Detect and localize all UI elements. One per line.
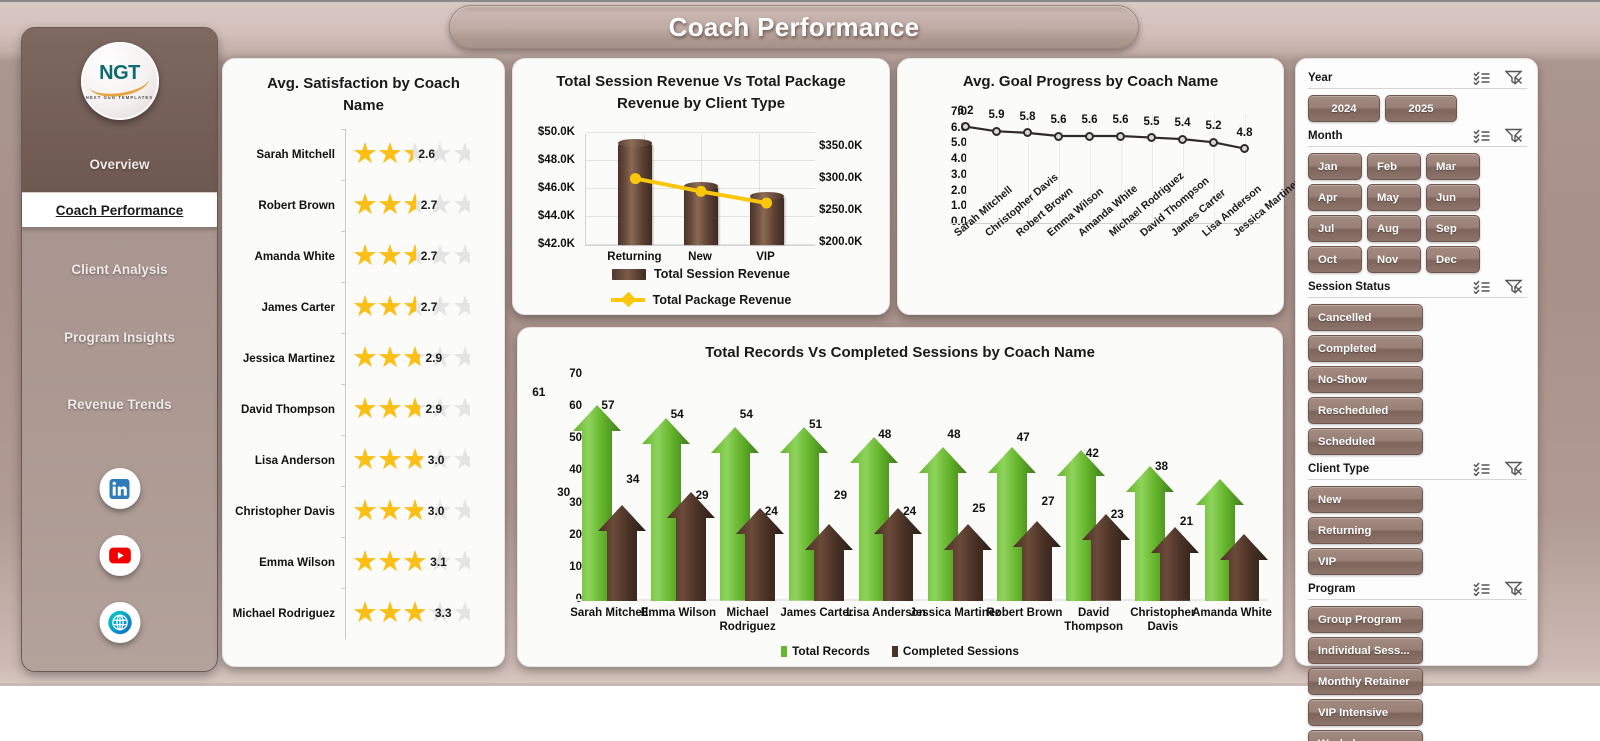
- filter-group-header: Client Type: [1308, 461, 1527, 476]
- filter-divider: [1308, 479, 1527, 480]
- revenue-y-tick: $44.0K: [538, 210, 575, 222]
- star-rating: ★★★★★★★★★★: [352, 343, 470, 373]
- filter-divider: [1308, 297, 1527, 298]
- filter-chip-may[interactable]: May: [1367, 184, 1421, 211]
- satisfaction-row: Sarah Mitchell★★★★★★★★★★2.6: [223, 129, 504, 180]
- select-all-icon[interactable]: [1473, 280, 1491, 294]
- revenue-x-label: VIP: [731, 251, 801, 263]
- revenue-y2-tick: $300.0K: [819, 172, 862, 184]
- gridline: [586, 132, 815, 133]
- filter-chip-cancelled[interactable]: Cancelled: [1308, 304, 1423, 331]
- rating-value: 2.7: [421, 300, 438, 314]
- filter-chip-jul[interactable]: Jul: [1308, 215, 1362, 242]
- coach-name: Amanda White: [223, 250, 345, 263]
- stars-filled: ★★★★★: [352, 343, 420, 373]
- axis-tick: [345, 486, 346, 537]
- revenue-plot-area: [585, 134, 815, 246]
- goal-data-label: 5.8: [1020, 111, 1036, 123]
- clear-filter-icon[interactable]: [1505, 128, 1523, 143]
- website-globe-icon[interactable]: [99, 602, 140, 643]
- revenue-y-tick: $48.0K: [538, 154, 575, 166]
- filter-group-header: Month: [1308, 128, 1527, 143]
- filter-chip-feb[interactable]: Feb: [1367, 153, 1421, 180]
- clear-filter-icon[interactable]: [1505, 581, 1523, 596]
- filter-chip-apr[interactable]: Apr: [1308, 184, 1362, 211]
- satisfaction-row: Lisa Anderson★★★★★★★★★★3.0: [223, 435, 504, 486]
- records-legend: Total RecordsCompleted Sessions: [518, 644, 1282, 658]
- stars-filled: ★★★★★: [352, 496, 423, 526]
- goal-data-label: 6.2: [958, 105, 974, 117]
- filter-chip-2025[interactable]: 2025: [1385, 95, 1457, 122]
- stars-filled: ★★★★★: [352, 547, 425, 577]
- goal-progress-card: Avg. Goal Progress by Coach Name 7.06.05…: [897, 58, 1284, 315]
- legend-label: Total Records: [792, 644, 870, 658]
- records-arrow-bar: [883, 508, 913, 601]
- filter-group-header: Program: [1308, 581, 1527, 596]
- filter-chip-mar[interactable]: Mar: [1426, 153, 1480, 180]
- coach-name: Jessica Martinez: [223, 352, 345, 365]
- filter-chip-jun[interactable]: Jun: [1426, 184, 1480, 211]
- records-arrow-bar: [1229, 534, 1259, 602]
- axis-tick: [345, 384, 346, 435]
- records-arrow-bar: [607, 505, 637, 601]
- records-data-label: 61: [532, 385, 545, 399]
- rating-value: 2.7: [421, 249, 438, 263]
- axis-tick: [345, 129, 346, 180]
- legend-swatch-line: [611, 298, 645, 302]
- goal-data-point: [1054, 132, 1063, 141]
- stars-filled: ★★★★★: [352, 394, 420, 424]
- rating-value: 2.9: [425, 351, 442, 365]
- filter-chip-group: CancelledCompletedNo-ShowRescheduledSche…: [1308, 304, 1527, 455]
- filter-panel: Year20242025MonthJanFebMarAprMayJunJulAu…: [1295, 58, 1538, 666]
- filter-chip-oct[interactable]: Oct: [1308, 246, 1362, 273]
- filter-chip-new[interactable]: New: [1308, 486, 1423, 513]
- records-arrow-bar: [745, 508, 775, 601]
- axis-tick: [345, 333, 346, 384]
- avg-satisfaction-card: Avg. Satisfaction by Coach Name Sarah Mi…: [222, 58, 505, 667]
- filter-chip-sep[interactable]: Sep: [1426, 215, 1480, 242]
- filter-group-label: Session Status: [1308, 281, 1473, 293]
- legend-swatch: [892, 646, 898, 657]
- rating-value: 3.1: [430, 555, 447, 569]
- stars-filled: ★★★★★: [352, 190, 416, 220]
- youtube-icon[interactable]: [99, 535, 140, 576]
- filter-actions: [1473, 279, 1527, 294]
- star-rating: ★★★★★★★★★★: [352, 190, 470, 220]
- filter-chip-completed[interactable]: Completed: [1308, 335, 1423, 362]
- filter-chip-individual-sess[interactable]: Individual Sess...: [1308, 637, 1423, 664]
- sidebar-item-client-analysis[interactable]: Client Analysis: [22, 251, 217, 287]
- sidebar-item-label: Program Insights: [64, 330, 175, 345]
- rating-value: 3.0: [428, 504, 445, 518]
- coach-name: Michael Rodriguez: [223, 607, 345, 620]
- filter-group-label: Program: [1308, 583, 1473, 595]
- goal-data-label: 5.5: [1144, 116, 1160, 128]
- ngt-logo: NGT NEXT GEN TEMPLATES: [81, 42, 159, 120]
- legend-swatch-bar: [612, 269, 646, 280]
- satisfaction-row: Emma Wilson★★★★★★★★★★3.1: [223, 537, 504, 588]
- package-revenue-line: [586, 134, 816, 246]
- satisfaction-row: Christopher Davis★★★★★★★★★★3.0: [223, 486, 504, 537]
- satisfaction-row: Jessica Martinez★★★★★★★★★★2.9: [223, 333, 504, 384]
- clear-filter-icon[interactable]: [1505, 70, 1523, 85]
- records-arrow-bar: [1022, 521, 1052, 601]
- filter-chip-returning[interactable]: Returning: [1308, 517, 1423, 544]
- filter-actions: [1473, 128, 1527, 143]
- goal-data-point: [961, 122, 970, 131]
- axis-tick: [345, 282, 346, 333]
- sidebar-item-label: Client Analysis: [71, 262, 167, 277]
- revenue-x-label: New: [665, 251, 735, 263]
- sidebar-item-label: Overview: [89, 157, 149, 172]
- filter-chip-2024[interactable]: 2024: [1308, 95, 1380, 122]
- filter-chip-nov[interactable]: Nov: [1367, 246, 1421, 273]
- records-arrow-bar: [953, 524, 983, 601]
- page-title-banner: Coach Performance: [449, 5, 1139, 49]
- records-chart-title: Total Records Vs Completed Sessions by C…: [518, 342, 1282, 364]
- chart-legend-item: Total Package Revenue: [513, 293, 889, 307]
- satisfaction-row: David Thompson★★★★★★★★★★2.9: [223, 384, 504, 435]
- goal-data-point: [1240, 144, 1249, 153]
- goal-data-label: 4.8: [1237, 127, 1253, 139]
- revenue-y2-tick: $350.0K: [819, 140, 862, 152]
- filter-divider: [1308, 146, 1527, 147]
- legend-label: Total Package Revenue: [653, 293, 792, 307]
- satisfaction-row: Robert Brown★★★★★★★★★★2.7: [223, 180, 504, 231]
- goal-data-point: [1116, 132, 1125, 141]
- stars-filled: ★★★★★: [352, 139, 413, 169]
- rating-value: 3.0: [428, 453, 445, 467]
- sidebar-item-overview[interactable]: Overview: [22, 146, 217, 182]
- coach-name: Emma Wilson: [223, 556, 345, 569]
- chart-legend-item: Completed Sessions: [892, 644, 1019, 658]
- revenue-comparison-card: Total Session Revenue Vs Total Package R…: [512, 58, 890, 315]
- revenue-y-tick: $46.0K: [538, 182, 575, 194]
- dashboard-root: Coach Performance NGT NEXT GEN TEMPLATES…: [0, 0, 1600, 741]
- select-all-icon[interactable]: [1473, 582, 1491, 596]
- clear-filter-icon[interactable]: [1505, 461, 1523, 476]
- filter-chip-group: Group ProgramIndividual Sess...Monthly R…: [1308, 606, 1527, 741]
- filter-chip-monthly-retainer[interactable]: Monthly Retainer: [1308, 668, 1423, 695]
- avg-satisfaction-title: Avg. Satisfaction by Coach Name: [245, 73, 482, 117]
- records-arrow-bar: [814, 524, 844, 601]
- records-x-label: Amanda White: [1186, 606, 1278, 620]
- satisfaction-rows: Sarah Mitchell★★★★★★★★★★2.6Robert Brown★…: [223, 129, 504, 639]
- goal-data-point: [1085, 132, 1094, 141]
- satisfaction-row: Michael Rodriguez★★★★★★★★★★3.3: [223, 588, 504, 639]
- filter-actions: [1473, 70, 1527, 85]
- select-all-icon[interactable]: [1473, 129, 1491, 143]
- star-rating: ★★★★★★★★★★: [352, 292, 470, 322]
- filter-chip-aug[interactable]: Aug: [1367, 215, 1421, 242]
- axis-tick: [345, 180, 346, 231]
- coach-name: Sarah Mitchell: [223, 148, 345, 161]
- coach-name: James Carter: [223, 301, 345, 314]
- filter-group-header: Session Status: [1308, 279, 1527, 294]
- chart-legend-item: Total Session Revenue: [513, 267, 889, 281]
- sidebar-item-program-insights[interactable]: Program Insights: [22, 319, 217, 355]
- records-arrow-bar: [1160, 527, 1190, 601]
- star-rating: ★★★★★★★★★★: [352, 394, 470, 424]
- select-all-icon[interactable]: [1473, 71, 1491, 85]
- star-rating: ★★★★★★★★★★: [352, 496, 470, 526]
- filter-chip-group: NewReturningVIP: [1308, 486, 1527, 575]
- goal-data-label: 5.6: [1082, 114, 1098, 126]
- star-rating: ★★★★★★★★★★: [352, 547, 470, 577]
- stars-filled: ★★★★★: [352, 598, 430, 628]
- satisfaction-row: James Carter★★★★★★★★★★2.7: [223, 282, 504, 333]
- records-vs-sessions-card: Total Records Vs Completed Sessions by C…: [517, 327, 1283, 667]
- sidebar-item-label: Coach Performance: [56, 203, 184, 218]
- rating-value: 2.6: [418, 147, 435, 161]
- filter-divider: [1308, 88, 1527, 89]
- filter-actions: [1473, 581, 1527, 596]
- filter-group-label: Client Type: [1308, 463, 1473, 475]
- revenue-y2-tick: $200.0K: [819, 236, 862, 248]
- filter-chip-workshop[interactable]: Workshop: [1308, 730, 1423, 741]
- filter-divider: [1308, 599, 1527, 600]
- logo-text: NGT: [99, 63, 140, 83]
- coach-name: Lisa Anderson: [223, 454, 345, 467]
- stars-filled: ★★★★★: [352, 445, 423, 475]
- goal-data-point: [992, 127, 1001, 136]
- records-data-label: 30: [557, 485, 570, 499]
- legend-swatch: [781, 646, 787, 657]
- rating-value: 2.7: [421, 198, 438, 212]
- linkedin-icon[interactable]: [99, 468, 140, 509]
- filter-group-label: Year: [1308, 72, 1473, 84]
- goal-chart-title: Avg. Goal Progress by Coach Name: [898, 71, 1283, 93]
- filter-chip-group-program[interactable]: Group Program: [1308, 606, 1423, 633]
- filter-group-label: Month: [1308, 130, 1473, 142]
- sidebar-item-coach-performance[interactable]: Coach Performance: [22, 192, 217, 228]
- sidebar-item-label: Revenue Trends: [67, 397, 171, 412]
- records-plot-area: [576, 376, 1268, 601]
- page-title: Coach Performance: [669, 12, 920, 43]
- revenue-y-tick: $42.0K: [538, 238, 575, 250]
- stars-filled: ★★★★★: [352, 241, 416, 271]
- select-all-icon[interactable]: [1473, 462, 1491, 476]
- filter-chip-vip[interactable]: VIP: [1308, 548, 1423, 575]
- chart-legend-item: Total Records: [781, 644, 870, 658]
- revenue-x-label: Returning: [599, 251, 669, 263]
- revenue-y2-tick: $250.0K: [819, 204, 862, 216]
- filter-group-header: Year: [1308, 70, 1527, 85]
- filter-chip-jan[interactable]: Jan: [1308, 153, 1362, 180]
- clear-filter-icon[interactable]: [1505, 279, 1523, 294]
- legend-label: Completed Sessions: [903, 644, 1019, 658]
- filter-chip-group: 20242025: [1308, 95, 1527, 122]
- goal-data-point: [1178, 135, 1187, 144]
- filter-chip-rescheduled[interactable]: Rescheduled: [1308, 397, 1423, 424]
- filter-actions: [1473, 461, 1527, 476]
- revenue-chart-title: Total Session Revenue Vs Total Package R…: [539, 71, 863, 115]
- axis-tick: [345, 537, 346, 588]
- rating-value: 2.9: [425, 402, 442, 416]
- star-rating: ★★★★★★★★★★: [352, 139, 470, 169]
- axis-tick: [345, 588, 346, 639]
- goal-data-point: [1147, 133, 1156, 142]
- filter-chip-no-show[interactable]: No-Show: [1308, 366, 1423, 393]
- coach-name: David Thompson: [223, 403, 345, 416]
- star-rating: ★★★★★★★★★★: [352, 241, 470, 271]
- sidebar: NGT NEXT GEN TEMPLATES Overview Coach Pe…: [21, 27, 218, 672]
- axis-tick: [345, 231, 346, 282]
- star-rating: ★★★★★★★★★★: [352, 445, 470, 475]
- filter-chip-vip-intensive[interactable]: VIP Intensive: [1308, 699, 1423, 726]
- coach-name: Christopher Davis: [223, 505, 345, 518]
- goal-data-label: 5.6: [1113, 114, 1129, 126]
- records-arrow-bar: [1091, 514, 1121, 601]
- goal-data-label: 5.4: [1175, 117, 1191, 129]
- filter-chip-scheduled[interactable]: Scheduled: [1308, 428, 1423, 455]
- axis-tick: [345, 435, 346, 486]
- coach-name: Robert Brown: [223, 199, 345, 212]
- stars-filled: ★★★★★: [352, 292, 416, 322]
- goal-data-label: 5.6: [1051, 114, 1067, 126]
- filter-chip-dec[interactable]: Dec: [1426, 246, 1480, 273]
- satisfaction-row: Amanda White★★★★★★★★★★2.7: [223, 231, 504, 282]
- records-arrow-bar: [676, 492, 706, 601]
- goal-data-label: 5.2: [1206, 120, 1222, 132]
- star-rating: ★★★★★★★★★★: [352, 598, 470, 628]
- goal-data-point: [1209, 138, 1218, 147]
- sidebar-item-revenue-trends[interactable]: Revenue Trends: [22, 386, 217, 422]
- rating-value: 3.3: [435, 606, 452, 620]
- legend-label: Total Session Revenue: [654, 267, 790, 281]
- filter-chip-group: JanFebMarAprMayJunJulAugSepOctNovDec: [1308, 153, 1527, 273]
- goal-data-label: 5.9: [989, 109, 1005, 121]
- revenue-y-tick: $50.0K: [538, 126, 575, 138]
